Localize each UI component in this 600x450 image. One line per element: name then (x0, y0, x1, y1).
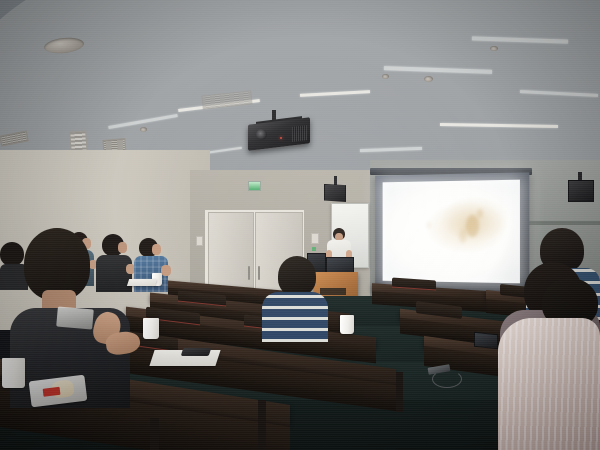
wall-switch-plate[interactable] (311, 233, 319, 244)
desk-leg (258, 400, 266, 450)
speaker-right (568, 180, 594, 202)
attendee-right-pink-shirt (498, 312, 600, 450)
door-handle[interactable] (248, 266, 250, 280)
wall-indicator-icon (312, 247, 316, 251)
attendee-torso (262, 292, 328, 342)
projector-vent-icon (292, 125, 307, 142)
speaker-mount-rod (334, 176, 337, 185)
laptop-on-desk (474, 332, 498, 350)
screen-content-smudge (459, 229, 467, 243)
downlight-icon (382, 74, 389, 79)
exit-sign-glow (249, 182, 260, 190)
lecture-hall-photo: Audience seated at tiered desks applaudi… (0, 0, 600, 450)
downlight-icon (424, 76, 433, 82)
paper-cup (143, 318, 159, 339)
screen-content-smudge (477, 209, 483, 218)
desk-leg (396, 372, 403, 412)
projector-lens-icon (256, 129, 267, 140)
wall-switch-plate[interactable] (196, 236, 203, 246)
door-handle[interactable] (258, 266, 260, 280)
attendee-head (278, 256, 316, 296)
screen-content-smudge (466, 215, 479, 237)
projector-indicator-icon (280, 137, 282, 139)
attendee-face (152, 244, 161, 255)
screen-content-smudge (426, 221, 431, 229)
presentation-remote (181, 348, 212, 356)
exit-sign-icon (248, 181, 261, 191)
desk-leg (150, 418, 159, 450)
paper-cup (340, 315, 354, 334)
paper-cup (2, 358, 25, 388)
speaker-left (324, 184, 346, 202)
floor-cable (432, 370, 462, 388)
notebook (127, 279, 157, 286)
downlight-icon (140, 127, 147, 132)
snack-wrapper (56, 306, 94, 329)
attendee-mid-striped-shirt (262, 256, 330, 342)
attendee-torso (498, 318, 600, 450)
downlight-icon (490, 46, 498, 51)
attendee-hand (161, 265, 171, 276)
